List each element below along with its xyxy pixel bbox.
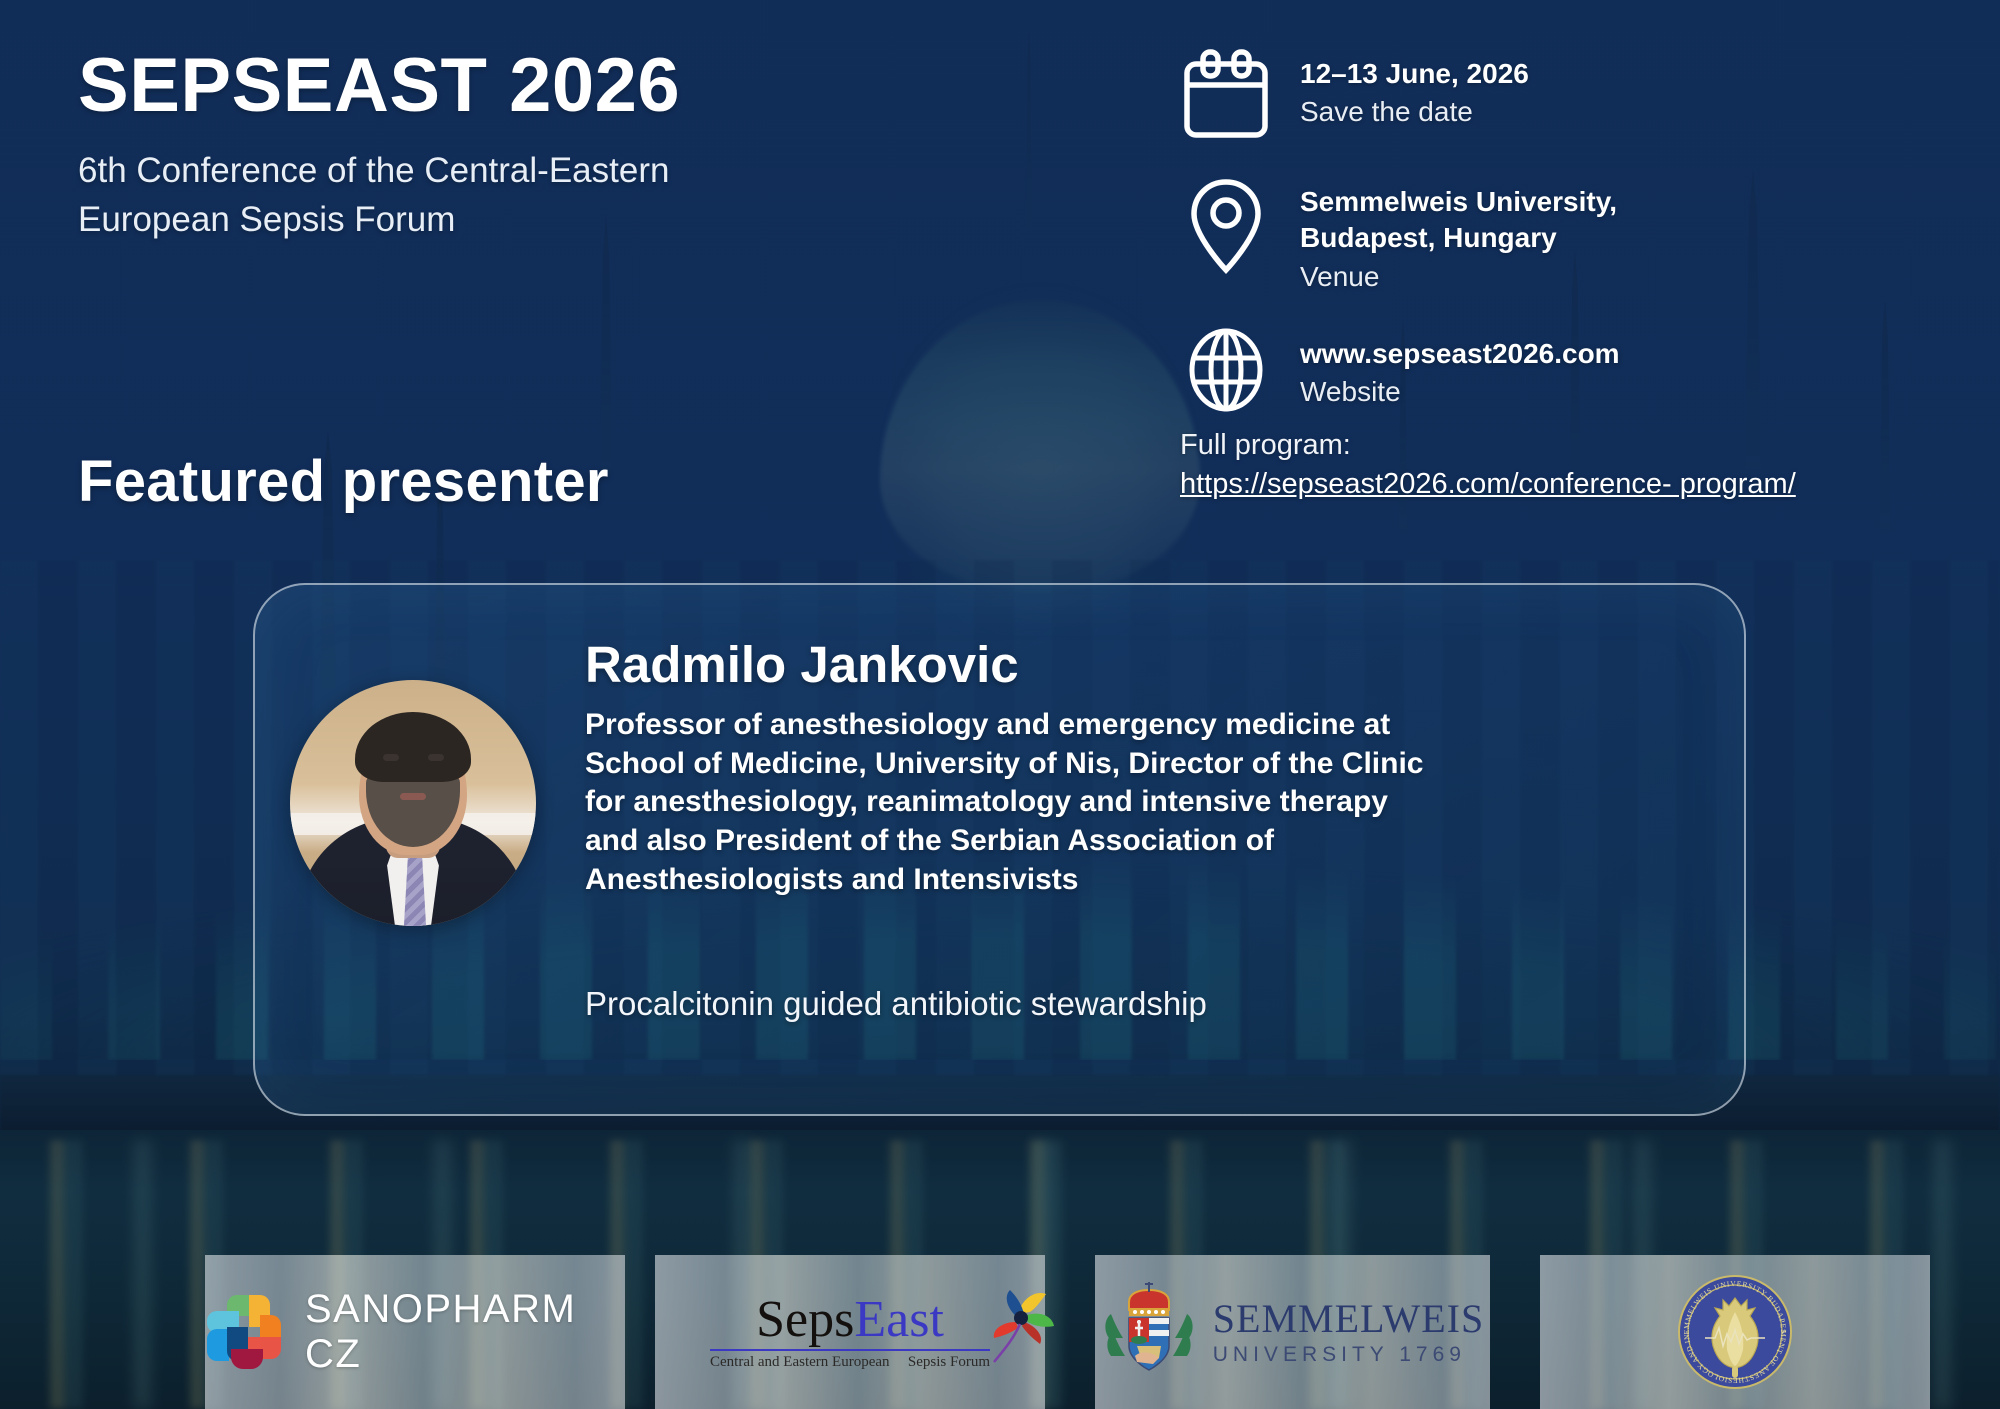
venue-value-line-2: Budapest, Hungary: [1300, 220, 1617, 256]
full-program-label: Full program:: [1180, 426, 1940, 465]
semmelweis-logo: SEMMELWEIS UNIVERSITY 1769: [1101, 1280, 1484, 1384]
featured-presenter-card: Radmilo Jankovic Professor of anesthesio…: [253, 583, 1746, 1116]
calendar-icon: [1180, 46, 1272, 140]
presenter-details: Radmilo Jankovic Professor of anesthesio…: [585, 637, 1704, 900]
presenter-bio-line-1: Professor of anesthesiology and emergenc…: [585, 706, 1704, 745]
presenter-talk-title: Procalcitonin guided antibiotic stewards…: [585, 985, 1207, 1023]
sepseast-word-seps: Seps: [756, 1291, 854, 1348]
date-value: 12–13 June, 2026: [1300, 56, 1529, 92]
website-caption: Website: [1300, 374, 1620, 411]
globe-icon: [1180, 326, 1272, 412]
sepseast-divider: [710, 1349, 990, 1351]
sponsor-logo-strip: SANOPHARM CZ SepsEast Central and Easter…: [0, 1255, 2000, 1409]
avatar-mouth: [400, 793, 426, 800]
full-program-block: Full program: https://sepseast2026.com/c…: [1180, 426, 1940, 504]
avatar-eye-left: [383, 754, 399, 761]
conference-poster: SEPSEAST 2026 6th Conference of the Cent…: [0, 0, 2000, 1409]
date-caption: Save the date: [1300, 94, 1529, 131]
venue-value-line-1: Semmelweis University,: [1300, 184, 1617, 220]
subtitle-line-1: 6th Conference of the Central-Eastern: [78, 146, 1128, 195]
sepseast-pinwheel-icon: [984, 1288, 1056, 1364]
logo-panel-sanopharm: SANOPHARM CZ: [205, 1255, 625, 1409]
logo-panel-sepseast: SepsEast Central and Eastern European Se…: [655, 1255, 1045, 1409]
website-value[interactable]: www.sepseast2026.com: [1300, 336, 1620, 372]
presenter-bio-line-4: and also President of the Serbian Associ…: [585, 822, 1704, 861]
conference-info-list: 12–13 June, 2026 Save the date Semmelwei…: [1180, 46, 1940, 504]
semmelweis-crest-icon: [1101, 1280, 1197, 1384]
full-program-link[interactable]: https://sepseast2026.com/conference- pro…: [1180, 465, 1796, 504]
sepseast-word-east: East: [854, 1291, 944, 1348]
avatar: [290, 680, 536, 926]
sepseast-tagline-right: Sepsis Forum: [908, 1355, 990, 1370]
anesthesiology-department-seal-icon: SEMMELWEIS UNIVERSITY BUDAPEST DEPARTMEN…: [1675, 1272, 1795, 1392]
info-row-website[interactable]: www.sepseast2026.com Website: [1180, 326, 1940, 412]
semmelweis-name: SEMMELWEIS: [1213, 1298, 1484, 1340]
presenter-name: Radmilo Jankovic: [585, 637, 1704, 692]
semmelweis-text: SEMMELWEIS UNIVERSITY 1769: [1213, 1298, 1484, 1366]
sepseast-wordmark: SepsEast: [710, 1294, 990, 1346]
sanopharm-logo-text: SANOPHARM CZ: [305, 1287, 625, 1377]
venue-caption: Venue: [1300, 259, 1617, 296]
featured-presenter-heading: Featured presenter: [78, 448, 609, 515]
avatar-eye-right: [428, 754, 444, 761]
poster-header: SEPSEAST 2026 6th Conference of the Cent…: [78, 48, 1128, 244]
page-subtitle: 6th Conference of the Central-Eastern Eu…: [78, 146, 1128, 244]
subtitle-line-2: European Sepsis Forum: [78, 195, 1128, 244]
sepseast-tagline-left: Central and Eastern European: [710, 1355, 890, 1370]
sepseast-logo: SepsEast Central and Eastern European Se…: [710, 1294, 990, 1370]
presenter-bio-line-5: Anesthesiologists and Intensivists: [585, 861, 1704, 900]
semmelweis-sub: UNIVERSITY 1769: [1213, 1344, 1484, 1366]
page-title: SEPSEAST 2026: [78, 48, 1128, 124]
presenter-bio-line-3: for anesthesiology, reanimatology and in…: [585, 783, 1704, 822]
info-text-date: 12–13 June, 2026 Save the date: [1300, 46, 1529, 131]
presenter-bio-line-2: School of Medicine, University of Nis, D…: [585, 745, 1704, 784]
logo-panel-semmelweis: SEMMELWEIS UNIVERSITY 1769: [1095, 1255, 1490, 1409]
info-row-venue: Semmelweis University, Budapest, Hungary…: [1180, 174, 1940, 296]
presenter-bio: Professor of anesthesiology and emergenc…: [585, 706, 1704, 899]
logo-panel-anesthesiology-seal: SEMMELWEIS UNIVERSITY BUDAPEST DEPARTMEN…: [1540, 1255, 1930, 1409]
info-text-website: www.sepseast2026.com Website: [1300, 326, 1620, 411]
sepseast-tagline: Central and Eastern European Sepsis Foru…: [710, 1355, 990, 1370]
sanopharm-logo-icon: [205, 1293, 283, 1371]
location-pin-icon: [1180, 174, 1272, 276]
info-text-venue: Semmelweis University, Budapest, Hungary…: [1300, 174, 1617, 296]
info-row-date: 12–13 June, 2026 Save the date: [1180, 46, 1940, 140]
